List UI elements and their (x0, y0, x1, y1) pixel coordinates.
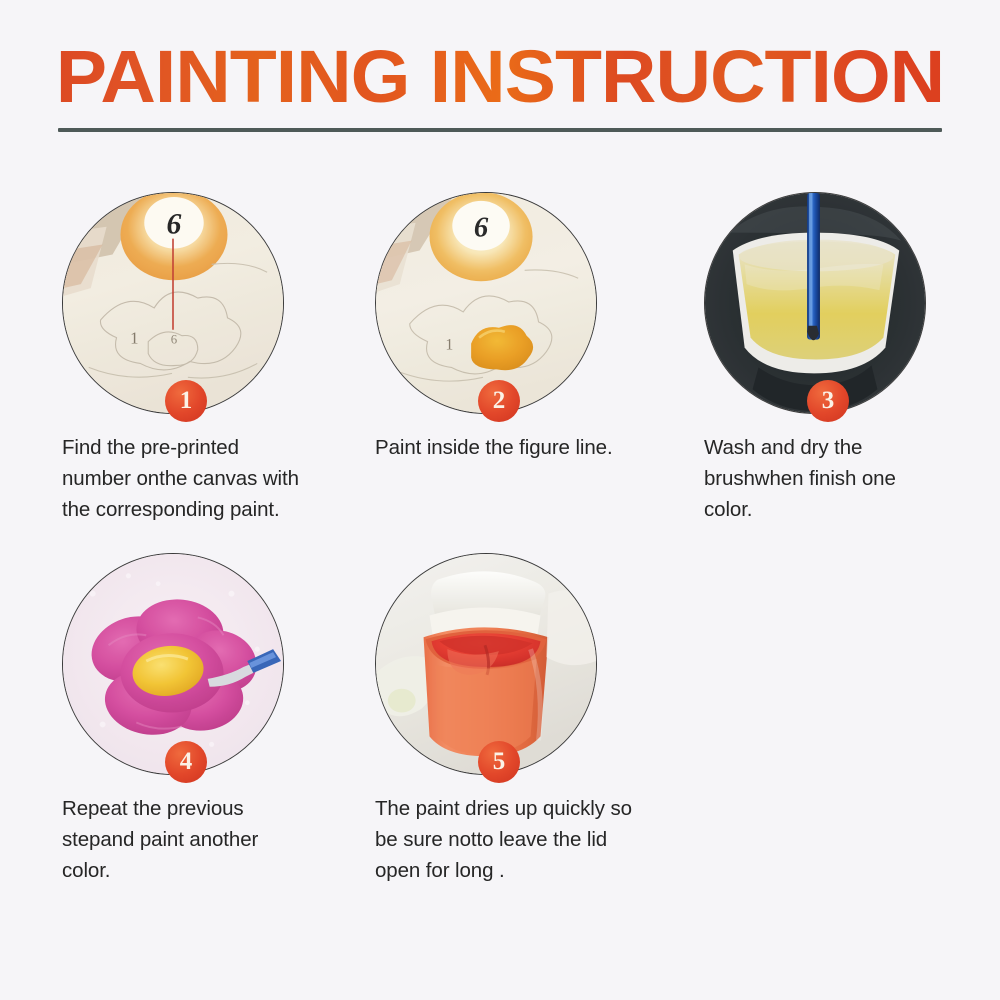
canvas-painted-inside-outline-photo: 6 1 (375, 192, 597, 414)
brush-rinsing-in-water-cup-photo (704, 192, 926, 414)
canvas-with-numbered-paint-pot-photo: 6 1 6 (62, 192, 284, 414)
step-badge-5: 5 (478, 741, 520, 783)
step-caption-5: The paint dries up quickly so be sure no… (375, 793, 645, 886)
step-1-photo-block: 6 1 6 1 (62, 176, 298, 422)
steps-row-bottom: 4 Repeat the previous stepand paint anot… (0, 537, 1000, 886)
open-red-paint-pot-photo (375, 553, 597, 775)
step-badge-2: 2 (478, 380, 520, 422)
title-banner: PAINTING INSTRUCTION (0, 0, 1000, 150)
title-divider (58, 128, 942, 132)
step-5-photo-block: 5 (375, 537, 611, 783)
step-item-3: 3 Wash and dry the brushwhen finish one … (666, 176, 999, 525)
step-item-4: 4 Repeat the previous stepand paint anot… (0, 537, 333, 886)
steps-row-top: 6 1 6 1 (0, 176, 1000, 525)
painted-pink-flower-photo (62, 553, 284, 775)
step-3-photo-block: 3 (704, 176, 940, 422)
step-caption-4: Repeat the previous stepand paint anothe… (62, 793, 312, 886)
step-caption-3: Wash and dry the brushwhen finish one co… (704, 432, 919, 525)
step-4-photo-block: 4 (62, 537, 298, 783)
step-2-photo-block: 6 1 2 (375, 176, 611, 422)
step-caption-1: Find the pre-printed number onthe canvas… (62, 432, 312, 525)
step-badge-1: 1 (165, 380, 207, 422)
step-item-5: 5 The paint dries up quickly so be sure … (333, 537, 666, 886)
steps-row-bottom-spacer (666, 537, 999, 886)
step-item-1: 6 1 6 1 (0, 176, 333, 525)
step-badge-4: 4 (165, 741, 207, 783)
steps-grid: 6 1 6 1 (0, 176, 1000, 886)
step-caption-2: Paint inside the figure line. (375, 432, 645, 463)
step-badge-3: 3 (807, 380, 849, 422)
page-title: PAINTING INSTRUCTION (0, 38, 1000, 116)
step-item-2: 6 1 2 Paint inside the figure line. (333, 176, 666, 525)
